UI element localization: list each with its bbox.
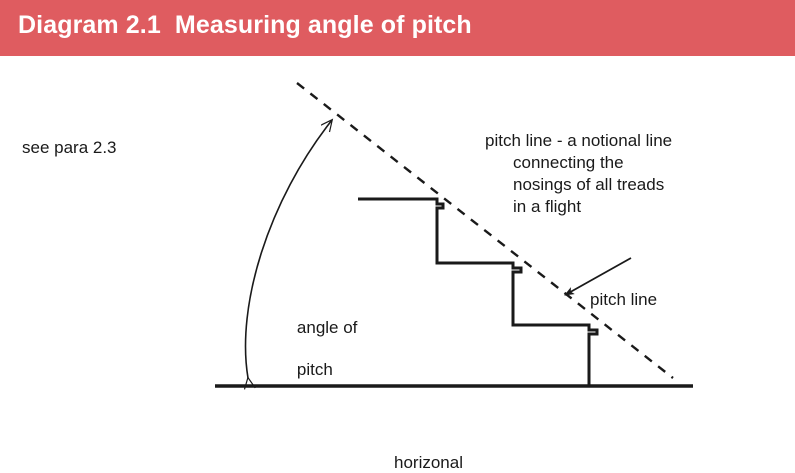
- horizontal-baseline-label: horizonal: [394, 452, 463, 473]
- note-line-2: connecting the: [485, 152, 785, 174]
- note-line-4: in a flight: [485, 196, 785, 218]
- see-para-label: see para 2.3: [22, 137, 117, 158]
- pitch-line-callout-label: pitch line: [590, 289, 657, 310]
- stair-profile: [358, 199, 597, 386]
- angle-of-pitch-label: angle of pitch: [278, 296, 357, 401]
- page-title: Diagram 2.1 Measuring angle of pitch: [18, 11, 472, 40]
- note-line-3: nosings of all treads: [485, 174, 785, 196]
- angle-of-pitch-label-line2: pitch: [297, 360, 333, 379]
- diagram-canvas: see para 2.3 pitch line - a notional lin…: [0, 56, 795, 446]
- header-bar: Diagram 2.1 Measuring angle of pitch: [0, 0, 795, 56]
- angle-of-pitch-label-line1: angle of: [297, 318, 358, 337]
- pitch-line-definition-note: pitch line - a notional line connecting …: [485, 130, 785, 218]
- pitch-diagram-drawing: [0, 56, 795, 446]
- note-line-1: pitch line - a notional line: [485, 130, 785, 152]
